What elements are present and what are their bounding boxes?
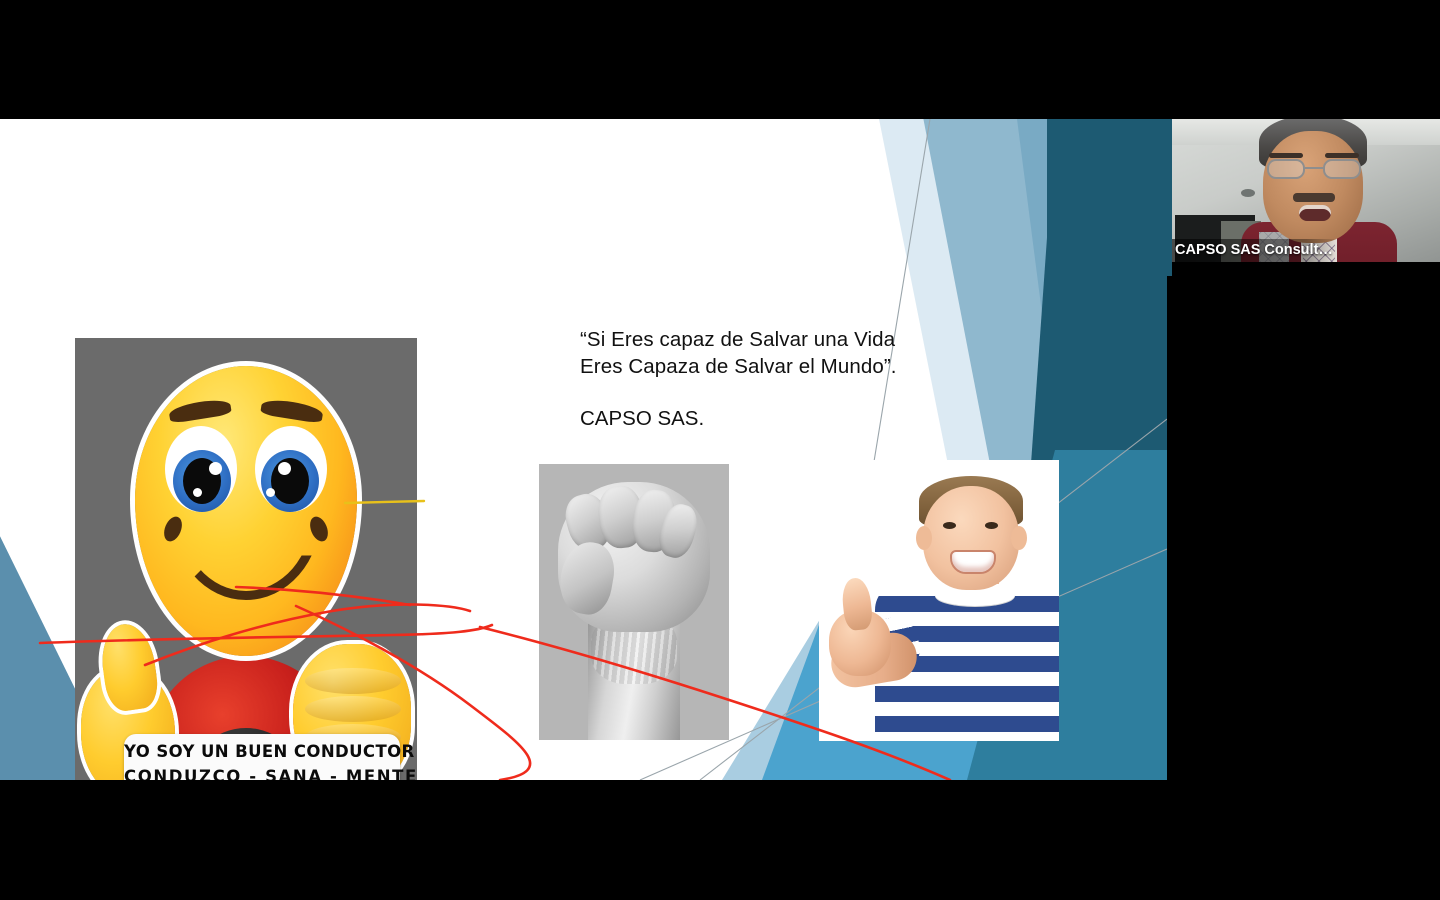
slide-signature-text: CAPSO SAS. [580,407,704,431]
smiley-eyebrow-left [168,397,232,423]
smiley-mouth [171,514,321,600]
meeting-stage: “Si Eres capaz de Salvar una Vida Eres C… [0,0,1440,900]
cam-background-detail [1241,189,1255,197]
smiley-illustration [75,338,417,780]
participant-video-tile[interactable]: CAPSO SAS Consult… [1167,119,1440,276]
smiley-eye-glint [266,488,275,497]
smiley-caption-line-1: YO SOY UN BUEN CONDUCTOR [124,742,400,761]
boy-thumbs-up-photo [819,460,1059,741]
boy-smiling-mouth [950,550,996,574]
glasses-icon [1267,159,1361,179]
cam-letterbox-bar [1167,262,1440,276]
participant-eyebrow [1269,153,1303,158]
smiley-eye-glint [278,462,291,475]
smiley-eyebrow-right [260,397,324,423]
smiley-eye-glint [193,488,202,497]
glasses-bridge [1305,167,1323,169]
participant-mouth [1299,205,1331,221]
boy-eye [943,522,956,529]
screen-share-region[interactable]: “Si Eres capaz de Salvar una Vida Eres C… [0,119,1167,780]
participant-face [1263,131,1363,243]
smiley-caption-line-2: CONDUZCO - SANA - MENTE [124,767,400,780]
boy-ear [916,526,932,550]
slide-quote-text: “Si Eres capaz de Salvar una Vida Eres C… [580,326,930,380]
clenched-fist-photo [539,464,729,740]
smiley-caption-plate: YO SOY UN BUEN CONDUCTOR CONDUZCO - SANA… [124,734,400,780]
cam-accent-edge [1167,119,1172,276]
glasses-lens-left [1267,159,1305,179]
boy-eye [985,522,998,529]
participant-name-label: CAPSO SAS Consult… [1167,239,1341,262]
smiley-eye-glint [209,462,222,475]
glasses-lens-right [1323,159,1361,179]
smiley-face [135,366,357,656]
boy-head [923,486,1019,590]
boy-ear [1011,526,1027,550]
quote-line-1: “Si Eres capaz de Salvar una Vida [580,328,895,351]
smiley-driver-photo: YO SOY UN BUEN CONDUCTOR CONDUZCO - SANA… [75,338,417,780]
quote-line-2: Eres Capaza de Salvar el Mundo”. [580,353,930,380]
participant-eyebrow [1325,153,1359,158]
participant-mustache [1293,193,1335,202]
